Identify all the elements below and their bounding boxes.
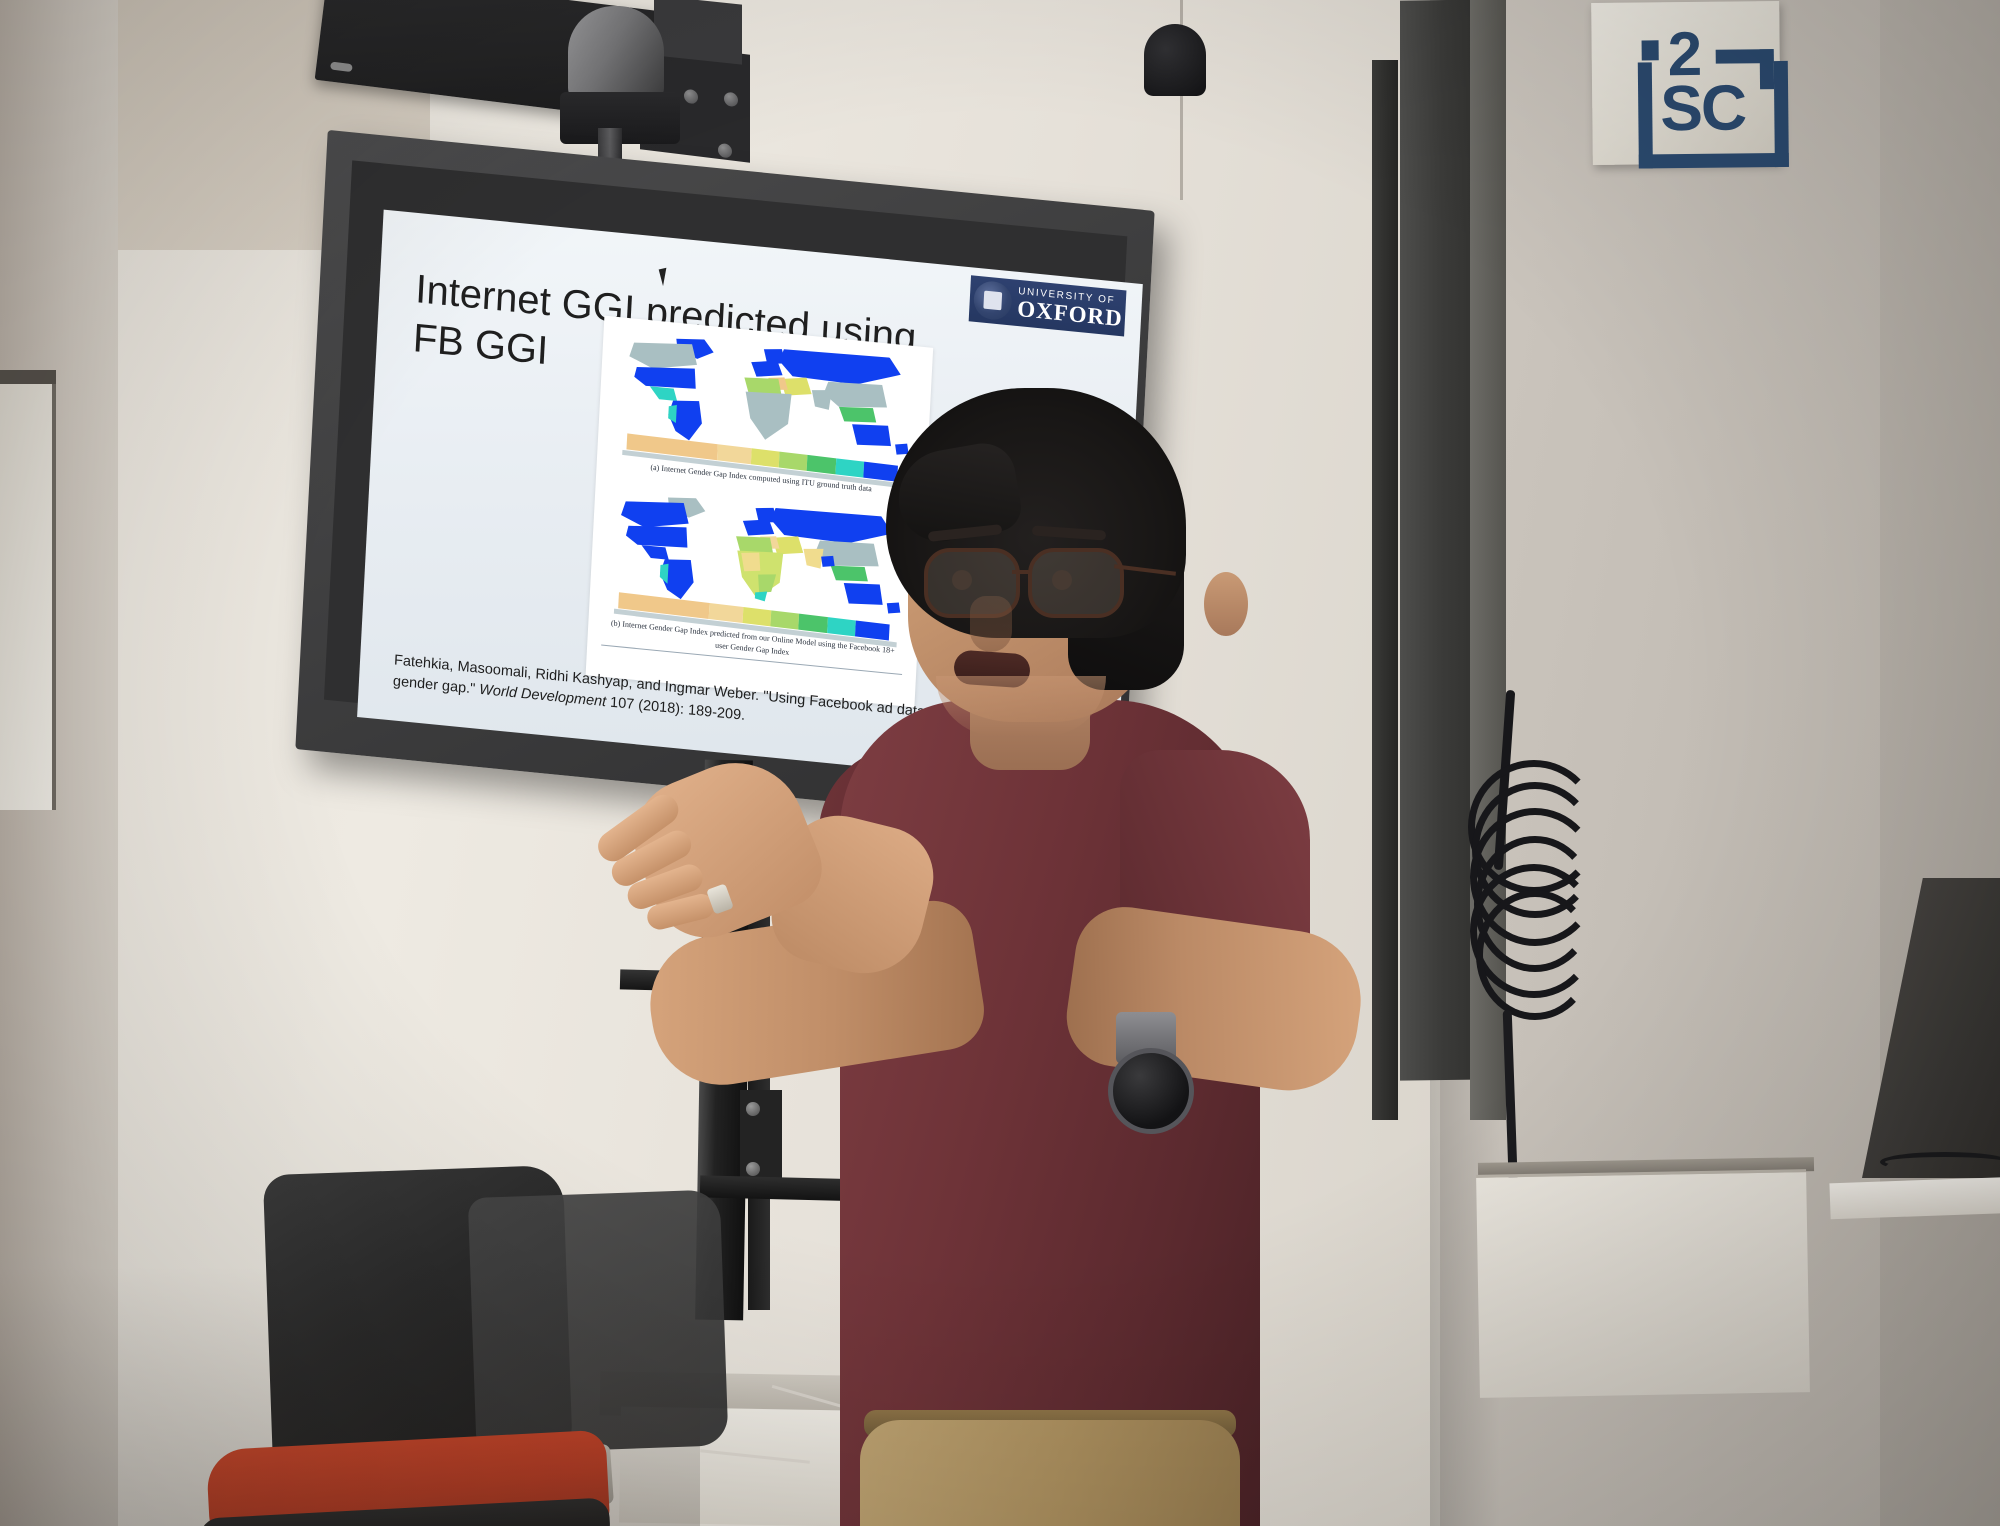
oxford-logo: UNIVERSITY OF OXFORD: [969, 275, 1127, 336]
oxford-crest-icon: [973, 280, 1013, 322]
sign-letters: SC: [1660, 75, 1746, 140]
floor-shadow: [0, 1266, 700, 1526]
mount-screw: [684, 89, 698, 105]
far-right-wall: [1880, 0, 2000, 1526]
presenter-ear: [1204, 572, 1248, 636]
whiteboard-left-top-rail: [0, 370, 56, 384]
camera-arm: [654, 0, 742, 65]
citation-volume: 107: [610, 695, 635, 713]
ptz-camera-icon: [568, 6, 664, 102]
room-photo-scene: 2 SC: [0, 0, 2000, 1526]
citation-year: (2018):: [638, 697, 685, 717]
mount-screw: [718, 143, 732, 159]
soundbar-led-icon: [330, 62, 353, 73]
citation-article-end: gender gap.": [393, 673, 476, 697]
coiled-av-cable: [1468, 760, 1598, 1030]
glasses-icon: [924, 548, 1139, 610]
oxford-logo-text: UNIVERSITY OF OXFORD: [1017, 286, 1124, 329]
stand-bolt: [746, 1102, 760, 1116]
glasses-lens-right: [1028, 548, 1124, 618]
citation-pages: 189-209.: [688, 702, 746, 724]
presenter-trousers: [860, 1420, 1240, 1526]
presenter-nose: [970, 596, 1012, 652]
desk-shelf: [1829, 1177, 2000, 1220]
wall-sign-2sc: 2 SC: [1591, 1, 1781, 165]
mouse-pointer-icon: [659, 266, 678, 286]
stand-bracket: [740, 1090, 782, 1190]
presenter: [820, 400, 1380, 1526]
whiteboard-panel: [1476, 1169, 1810, 1398]
whiteboard-left-edge: [0, 380, 56, 810]
mount-screw: [724, 92, 738, 108]
camera-lens-icon: [1144, 24, 1206, 96]
sign-logo-2sc: 2 SC: [1615, 15, 1758, 148]
desk-cable: [1880, 1152, 2000, 1172]
smartwatch-icon: [1108, 1048, 1194, 1134]
sign-dot-mark: [1642, 40, 1659, 60]
stand-bolt: [746, 1162, 760, 1176]
